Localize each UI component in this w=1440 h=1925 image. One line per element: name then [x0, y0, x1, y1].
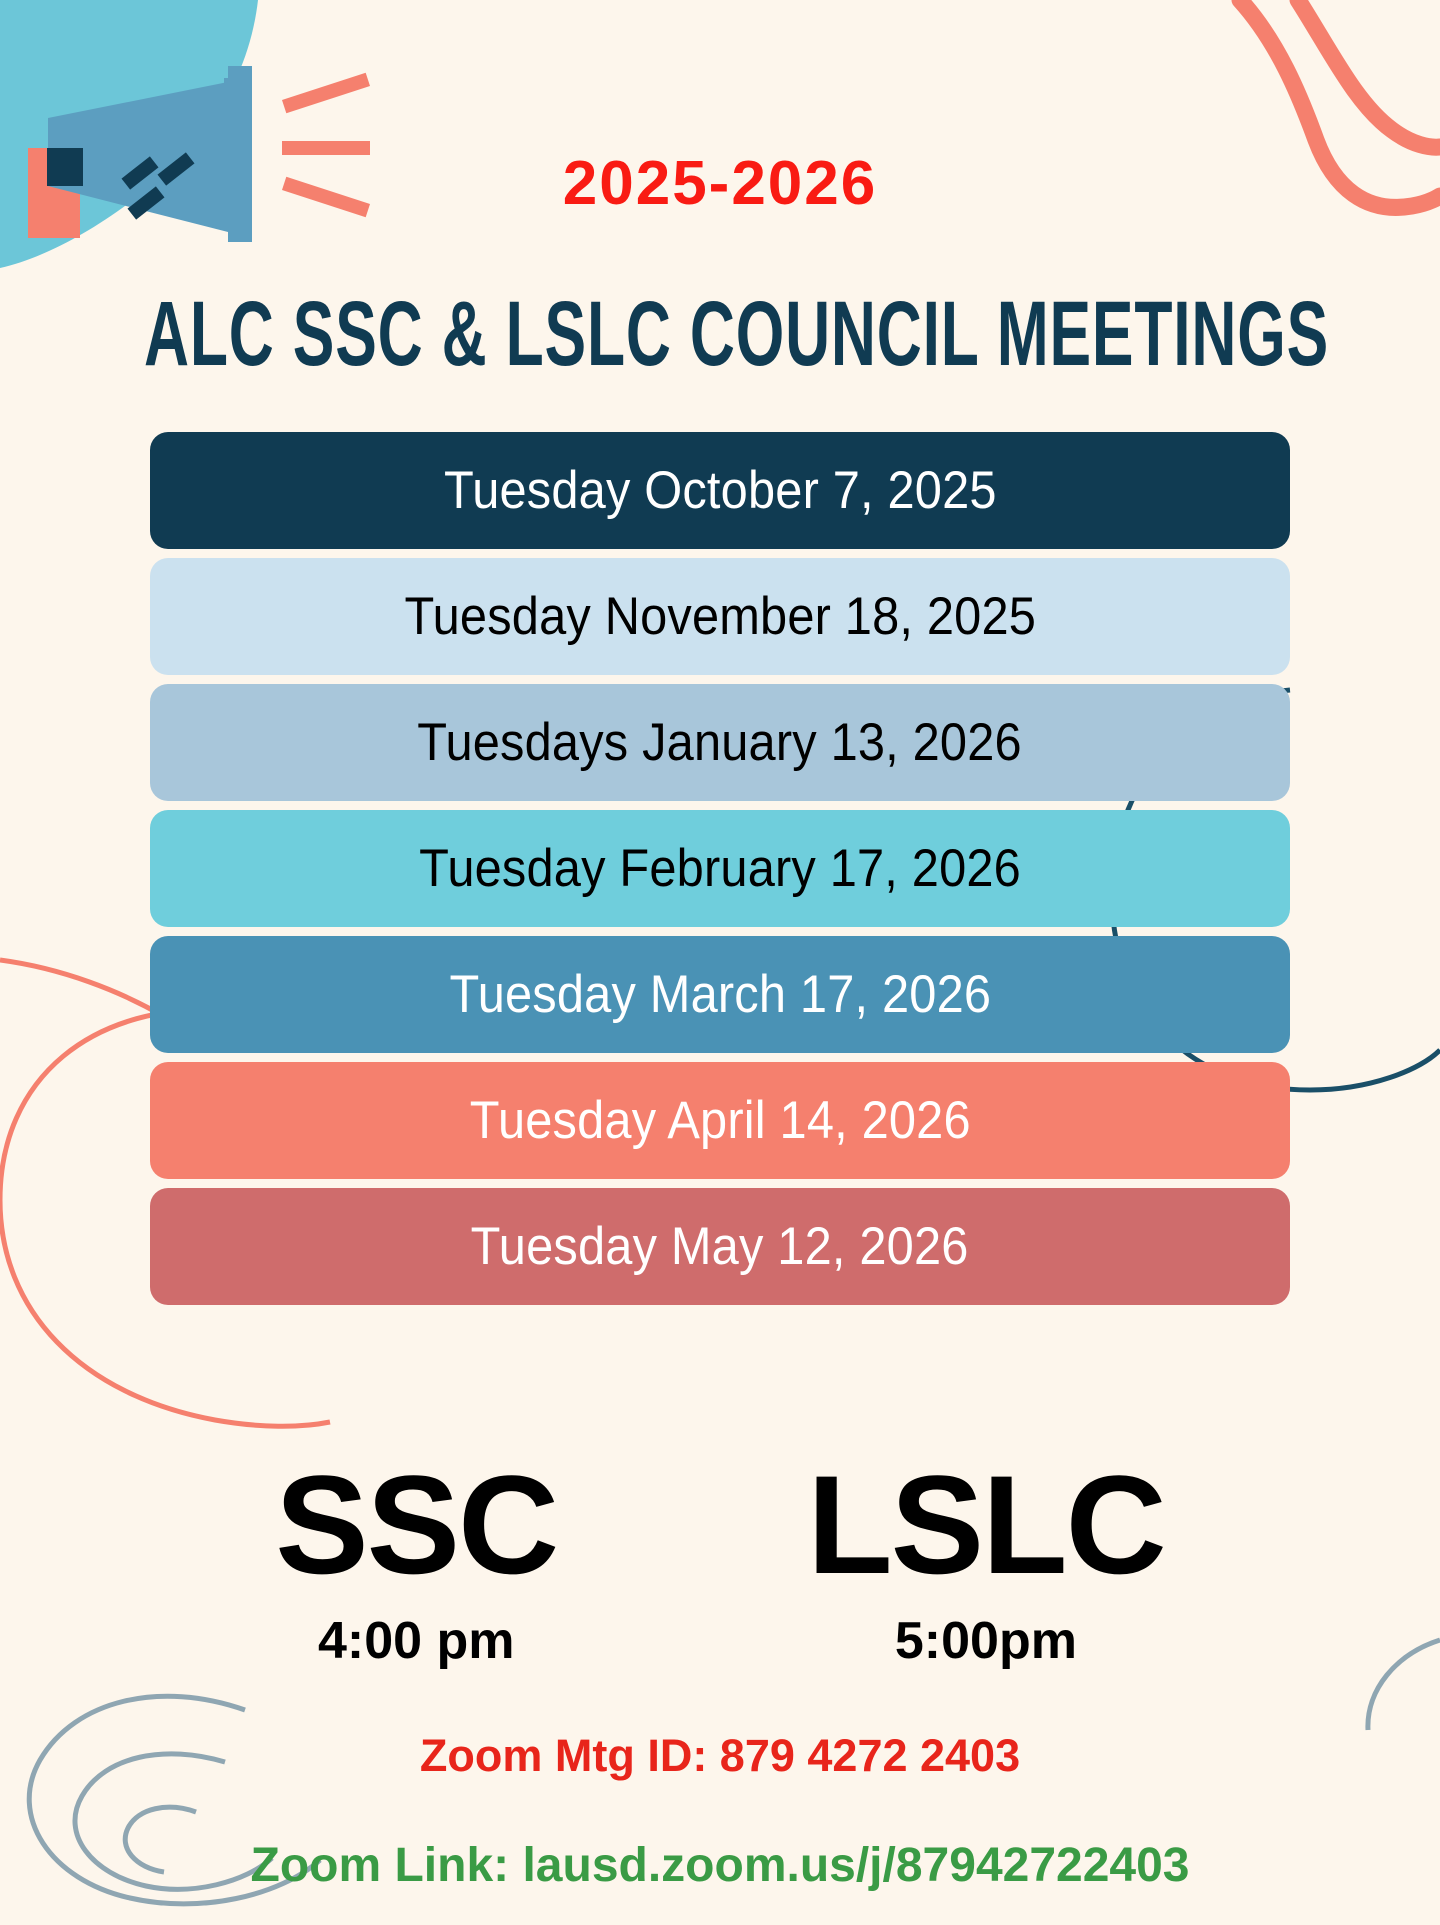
- meeting-date-label: Tuesday March 17, 2026: [449, 964, 991, 1025]
- meeting-date-label: Tuesday April 14, 2026: [469, 1090, 970, 1151]
- page-title: ALC SSC & LSLC COUNCIL MEETINGS: [144, 280, 1296, 387]
- council-time-label: 4:00 pm: [275, 1611, 557, 1671]
- meeting-date-label: Tuesday May 12, 2026: [471, 1216, 969, 1277]
- zoom-meeting-id: Zoom Mtg ID: 879 4272 2403: [0, 1730, 1440, 1782]
- meeting-date-bar: Tuesday April 14, 2026: [150, 1062, 1290, 1179]
- meeting-date-label: Tuesday October 7, 2025: [444, 460, 997, 521]
- council-times-section: SSC 4:00 pm LSLC 5:00pm: [0, 1455, 1440, 1671]
- meeting-date-label: Tuesday November 18, 2025: [404, 586, 1036, 647]
- school-year-label: 2025-2026: [0, 148, 1440, 219]
- meeting-date-bar: Tuesday May 12, 2026: [150, 1188, 1290, 1305]
- meeting-date-label: Tuesdays January 13, 2026: [418, 712, 1023, 773]
- council-ssc: SSC 4:00 pm: [275, 1455, 557, 1671]
- meeting-dates-list: Tuesday October 7, 2025 Tuesday November…: [0, 432, 1440, 1305]
- meeting-date-bar: Tuesday November 18, 2025: [150, 558, 1290, 675]
- meeting-date-bar: Tuesday October 7, 2025: [150, 432, 1290, 549]
- meeting-date-bar: Tuesday February 17, 2026: [150, 810, 1290, 927]
- council-lslc: LSLC 5:00pm: [807, 1455, 1165, 1671]
- council-name-label: LSLC: [807, 1455, 1165, 1595]
- council-name-label: SSC: [275, 1455, 557, 1595]
- meeting-date-bar: Tuesdays January 13, 2026: [150, 684, 1290, 801]
- zoom-meeting-link[interactable]: Zoom Link: lausd.zoom.us/j/87942722403: [0, 1838, 1440, 1893]
- council-time-label: 5:00pm: [807, 1611, 1165, 1671]
- meeting-date-bar: Tuesday March 17, 2026: [150, 936, 1290, 1053]
- meeting-date-label: Tuesday February 17, 2026: [419, 838, 1021, 899]
